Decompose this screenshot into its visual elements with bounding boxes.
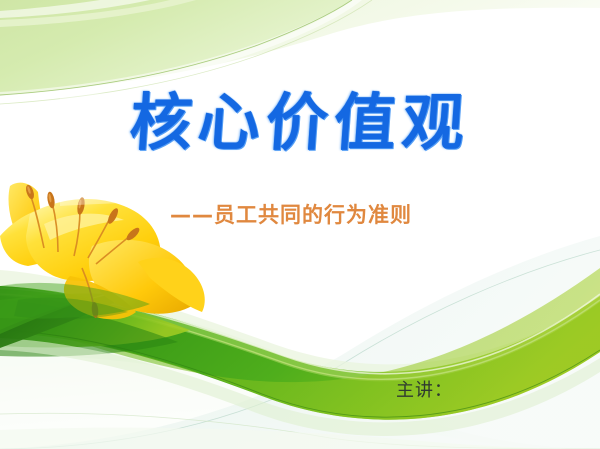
- slide-subtitle: ——员工共同的行为准则: [170, 199, 412, 229]
- page-title: 核心价值观: [128, 88, 473, 157]
- presenter-label: 主讲：: [396, 376, 566, 402]
- subtitle-block: ——员工共同的行为准则: [0, 199, 600, 229]
- presenter-block: 主讲：: [396, 376, 566, 402]
- title-slide: 核心价值观 ——员工共同的行为准则 主讲：: [0, 0, 600, 449]
- title-block: 核心价值观: [0, 88, 600, 157]
